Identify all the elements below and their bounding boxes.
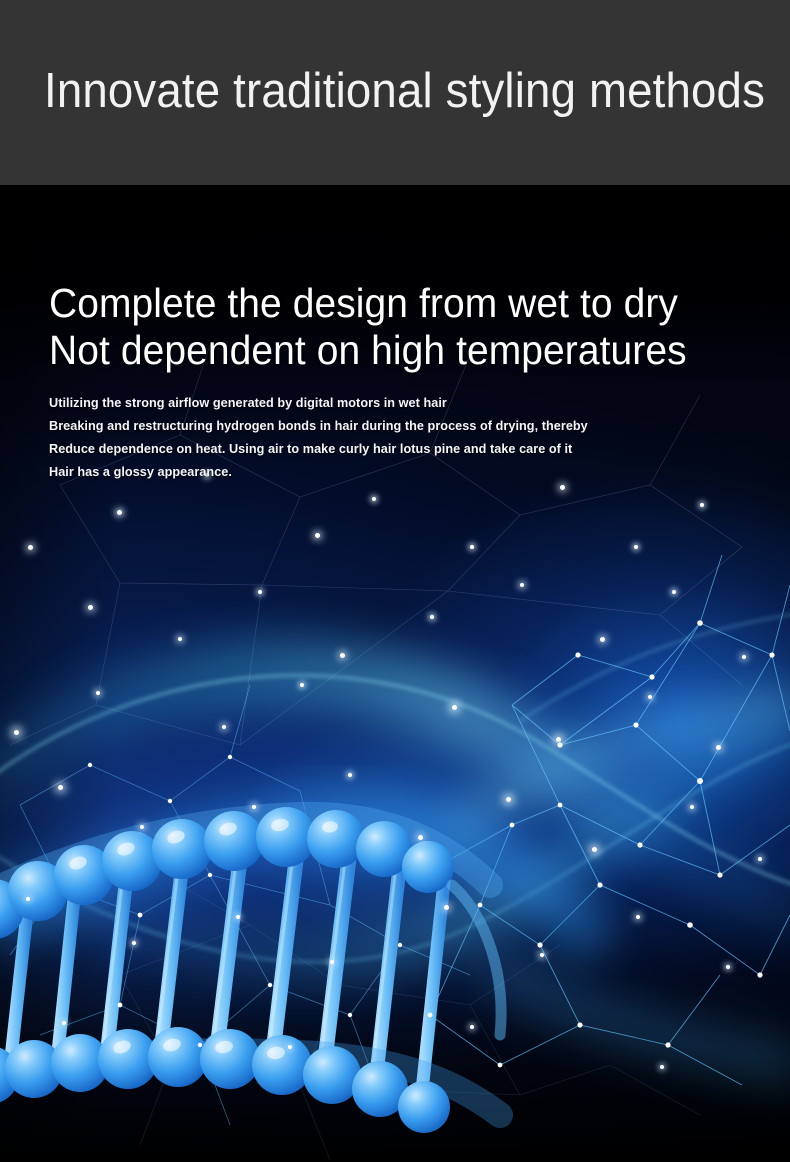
top-banner: Innovate traditional styling methods	[0, 0, 790, 185]
headline-line-1: Complete the design from wet to dry	[49, 280, 714, 327]
headline-line-2: Not dependent on high temperatures	[49, 327, 714, 374]
hero-section: Complete the design from wet to dry Not …	[0, 185, 790, 1162]
body-line: Utilizing the strong airflow generated b…	[49, 391, 721, 414]
body-line: Hair has a glossy appearance.	[49, 460, 721, 483]
banner-title: Innovate traditional styling methods	[44, 58, 765, 124]
body-line: Breaking and restructuring hydrogen bond…	[49, 414, 721, 437]
body-copy-block: Utilizing the strong airflow generated b…	[49, 391, 749, 483]
hero-copy-block: Complete the design from wet to dry Not …	[49, 280, 749, 483]
promo-page: Innovate traditional styling methods	[0, 0, 790, 1162]
body-line: Reduce dependence on heat. Using air to …	[49, 437, 721, 460]
